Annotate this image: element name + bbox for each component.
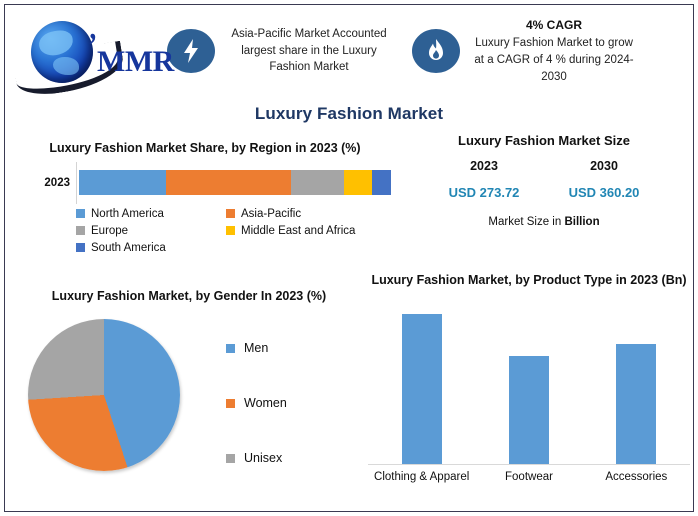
product-type-chart: Luxury Fashion Market, by Product Type i… — [368, 272, 690, 483]
header-highlight-2-text: 4% CAGR Luxury Fashion Market to grow at… — [469, 17, 639, 85]
legend-label: Asia-Pacific — [241, 208, 301, 220]
legend-item-asia-pacific: Asia-Pacific — [226, 208, 396, 220]
product-bar-accessories — [616, 344, 656, 464]
product-label-accessories: Accessories — [586, 471, 686, 483]
gender-chart-title: Luxury Fashion Market, by Gender In 2023… — [14, 288, 364, 305]
market-size-values: USD 273.72 USD 360.20 — [400, 185, 688, 200]
legend-label: South America — [91, 242, 166, 254]
legend-item-south-america: South America — [76, 242, 226, 254]
market-size-value-start: USD 273.72 — [424, 185, 544, 200]
legend-swatch-icon — [226, 399, 235, 408]
product-axis-labels: Clothing & Apparel Footwear Accessories — [368, 471, 690, 483]
cagr-value: 4% CAGR — [469, 17, 639, 34]
legend-item-europe: Europe — [76, 225, 226, 237]
legend-swatch-icon — [76, 209, 85, 218]
legend-item-middle-east-africa: Middle East and Africa — [226, 225, 396, 237]
legend-item-women: Women — [226, 376, 356, 431]
product-plot-area — [368, 299, 690, 465]
region-segment-north-america — [79, 170, 166, 195]
legend-label: Women — [244, 396, 287, 410]
gender-legend: Men Women Unisex — [226, 321, 356, 486]
gender-pie-area: Men Women Unisex — [14, 313, 364, 481]
header-highlight-1-text: Asia-Pacific Market Accounted largest sh… — [224, 26, 394, 76]
page-title: Luxury Fashion Market — [0, 104, 698, 124]
region-chart-title: Luxury Fashion Market Share, by Region i… — [14, 140, 396, 157]
region-axis-line — [76, 162, 77, 204]
product-bar-clothing-apparel — [402, 314, 442, 464]
market-size-value-end: USD 360.20 — [544, 185, 664, 200]
legend-item-men: Men — [226, 321, 356, 376]
region-segment-asia-pacific — [166, 170, 291, 195]
brand-name: MMR — [97, 45, 174, 79]
market-size-panel: Luxury Fashion Market Size 2023 2030 USD… — [400, 133, 688, 228]
market-size-years: 2023 2030 — [400, 159, 688, 173]
region-legend: North America Asia-Pacific Europe Middle… — [76, 208, 396, 254]
market-size-year-start: 2023 — [424, 159, 544, 173]
logo-q-mark: ’ — [88, 27, 97, 65]
market-size-unit-note: Market Size in Billion — [400, 216, 688, 228]
flame-icon — [412, 29, 460, 73]
legend-swatch-icon — [226, 454, 235, 463]
product-label-clothing-apparel: Clothing & Apparel — [372, 471, 472, 483]
cagr-description: Luxury Fashion Market to grow at a CAGR … — [474, 37, 633, 82]
region-stacked-bar — [79, 170, 391, 195]
header-bar: ’ MMR Asia-Pacific Market Accounted larg… — [5, 5, 693, 97]
market-size-note-unit: Billion — [564, 216, 599, 228]
mmr-logo: ’ MMR — [13, 15, 165, 87]
legend-item-north-america: North America — [76, 208, 226, 220]
legend-swatch-icon — [226, 209, 235, 218]
product-chart-title: Luxury Fashion Market, by Product Type i… — [368, 272, 690, 289]
lightning-bolt-icon — [167, 29, 215, 73]
market-size-year-end: 2030 — [544, 159, 664, 173]
legend-swatch-icon — [76, 243, 85, 252]
region-segment-middle-east-africa — [344, 170, 372, 195]
infographic-root: ’ MMR Asia-Pacific Market Accounted larg… — [0, 0, 698, 516]
legend-label: Men — [244, 341, 268, 355]
product-bar-footwear — [509, 356, 549, 464]
product-label-footwear: Footwear — [479, 471, 579, 483]
legend-swatch-icon — [226, 344, 235, 353]
market-size-note-prefix: Market Size in — [488, 216, 564, 228]
legend-item-unisex: Unisex — [226, 431, 356, 486]
region-share-chart: Luxury Fashion Market Share, by Region i… — [14, 140, 396, 254]
header-highlight-cagr: 4% CAGR Luxury Fashion Market to grow at… — [412, 17, 639, 85]
header-highlight-asia-pacific: Asia-Pacific Market Accounted largest sh… — [167, 26, 394, 76]
gender-share-chart: Luxury Fashion Market, by Gender In 2023… — [14, 288, 364, 481]
legend-swatch-icon — [76, 226, 85, 235]
gender-pie — [28, 319, 180, 471]
market-size-title: Luxury Fashion Market Size — [400, 133, 688, 148]
legend-label: Middle East and Africa — [241, 225, 355, 237]
legend-label: North America — [91, 208, 164, 220]
legend-label: Unisex — [244, 451, 282, 465]
legend-swatch-icon — [226, 226, 235, 235]
region-segment-europe — [291, 170, 344, 195]
region-segment-south-america — [372, 170, 391, 195]
region-bar-row: 2023 — [14, 168, 396, 198]
legend-label: Europe — [91, 225, 128, 237]
region-category-label: 2023 — [14, 177, 79, 189]
